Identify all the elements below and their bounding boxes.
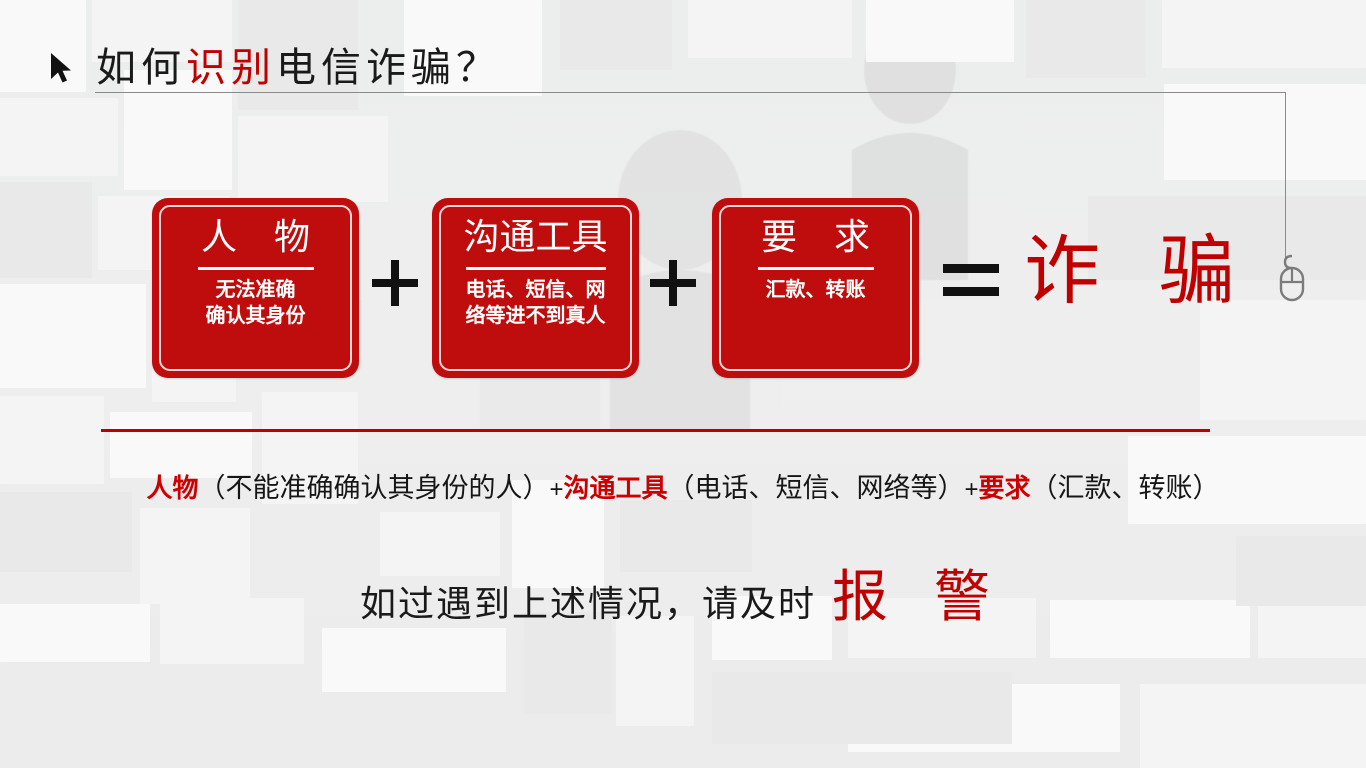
card-divider [466, 267, 606, 270]
factor-card-demand: 要 求 汇款、转账 [712, 198, 919, 378]
formula-operator-2: + [965, 476, 979, 503]
equation-result: 诈 骗 [1024, 234, 1255, 310]
card-inner: 沟通工具 电话、短信、网 络等进不到真人 [439, 205, 632, 371]
card-subtext: 无法准确 确认其身份 [206, 277, 306, 329]
call-to-action: 如过遇到上述情况，请及时报 警 [0, 552, 1366, 633]
title-underline [95, 92, 1285, 93]
operator-plus-1 [372, 260, 418, 306]
card-subtext: 汇款、转账 [766, 277, 866, 303]
card-inner: 人 物 无法准确 确认其身份 [159, 205, 352, 371]
section-divider [101, 429, 1210, 432]
equation-row: 人 物 无法准确 确认其身份 沟通工具 电话、短信、网 络等进不到真人 要 求 … [0, 198, 1366, 390]
slide-canvas: 如何识别电信诈骗？ 人 物 无法准确 确认其身份 沟通工具 电话、短信、网 络等… [0, 0, 1366, 768]
card-inner: 要 求 汇款、转账 [719, 205, 912, 371]
card-heading: 要 求 [747, 215, 884, 260]
page-title: 如何识别电信诈骗？ [96, 35, 501, 93]
card-divider [198, 267, 314, 270]
title-bar: 如何识别电信诈骗？ [0, 18, 1366, 78]
operator-plus-2 [650, 260, 696, 306]
card-heading: 沟通工具 [463, 215, 607, 260]
title-suffix: 电信诈骗？ [276, 45, 501, 90]
mouse-pointer-icon [48, 52, 74, 84]
title-highlight: 识别 [186, 45, 276, 90]
operator-equals [943, 264, 999, 296]
cta-lead-text: 如过遇到上述情况，请及时 [360, 584, 816, 624]
card-divider [758, 267, 874, 270]
card-heading: 人 物 [187, 215, 324, 260]
card-subtext: 电话、短信、网 络等进不到真人 [466, 277, 606, 329]
cta-emphasis-text: 报 警 [816, 567, 1006, 629]
formula-keyword-tool: 沟通工具 [563, 473, 667, 503]
formula-text-tool: （电话、短信、网络等） [668, 473, 965, 503]
formula-text-person: （不能准确确认其身份的人） [198, 473, 549, 503]
factor-card-person: 人 物 无法准确 确认其身份 [152, 198, 359, 378]
formula-keyword-demand: 要求 [979, 473, 1031, 503]
formula-summary: 人物（不能准确确认其身份的人）+沟通工具（电话、短信、网络等）+要求（汇款、转账… [0, 466, 1366, 505]
formula-keyword-person: 人物 [146, 473, 198, 503]
formula-operator-1: + [549, 476, 563, 503]
title-prefix: 如何 [96, 45, 186, 90]
factor-card-communication-tool: 沟通工具 电话、短信、网 络等进不到真人 [432, 198, 639, 378]
formula-text-demand: （汇款、转账） [1031, 473, 1220, 503]
